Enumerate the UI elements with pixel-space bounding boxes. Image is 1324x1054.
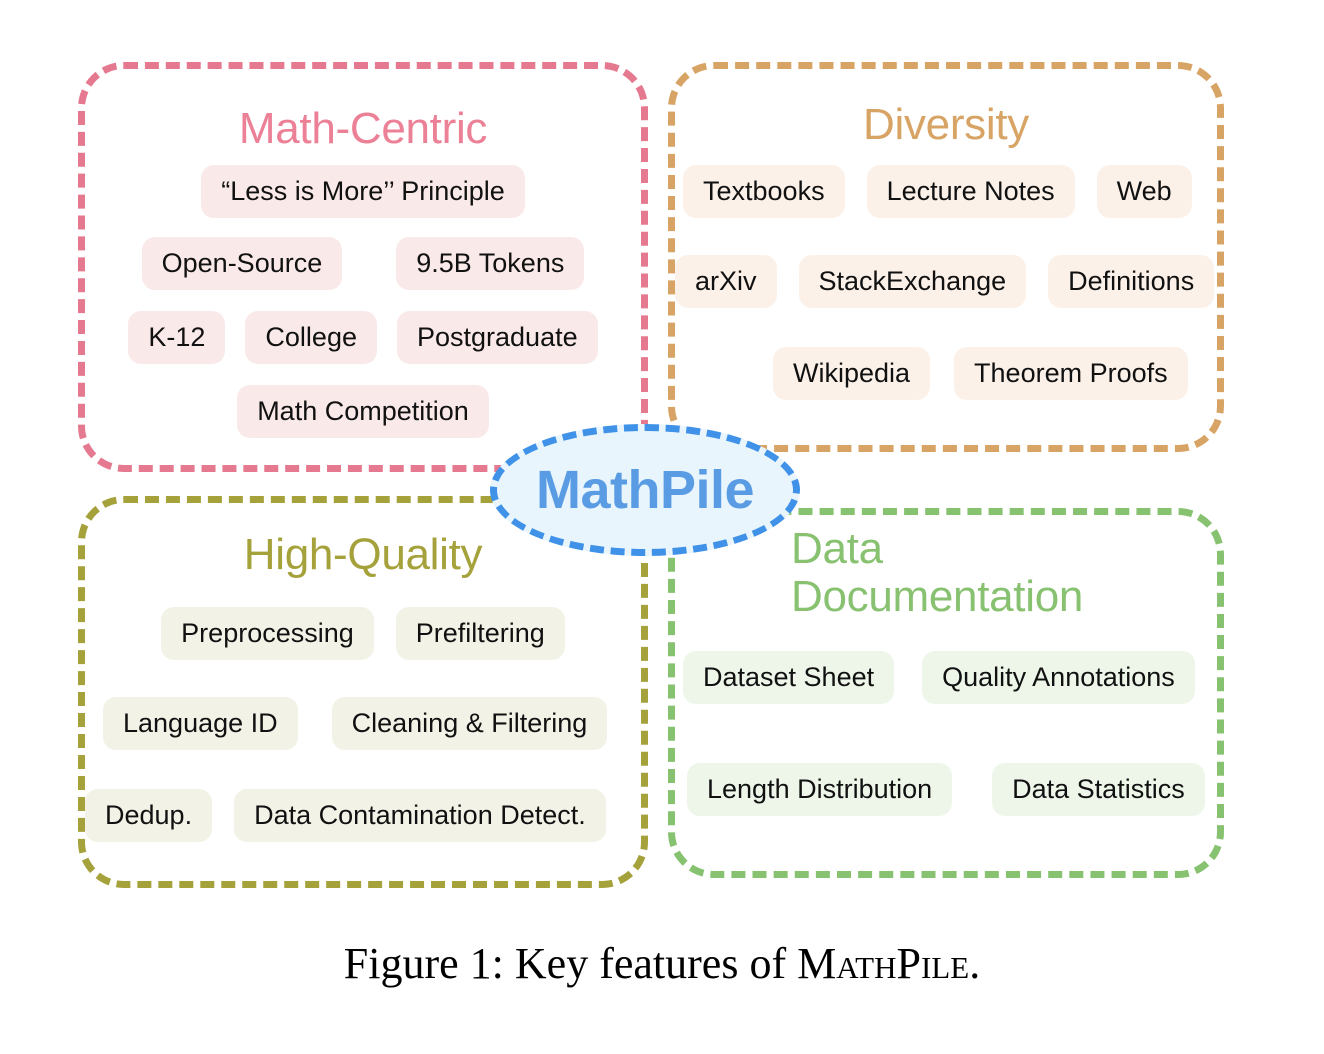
chip-open-source[interactable]: Open-Source	[142, 237, 343, 290]
figure-caption: Figure 1: Key features of MathPile.	[0, 938, 1324, 989]
chip-web[interactable]: Web	[1097, 165, 1192, 218]
chip-stackexchange[interactable]: StackExchange	[799, 255, 1027, 308]
chip-college[interactable]: College	[245, 311, 377, 364]
quadrant-title-math-centric: Math-Centric	[85, 105, 641, 153]
caption-prefix: Figure 1: Key features of	[344, 939, 797, 988]
chip-row: Language ID Cleaning & Filtering	[103, 697, 659, 750]
chip-theorem-proofs[interactable]: Theorem Proofs	[954, 347, 1188, 400]
quadrant-title-data-documentation: Data Documentation	[791, 525, 1121, 622]
chip-prefiltering[interactable]: Prefiltering	[396, 607, 565, 660]
chip-row: Open-Source 9.5B Tokens	[85, 237, 641, 290]
quadrant-data-documentation: Data Documentation Dataset Sheet Quality…	[668, 508, 1224, 878]
chip-less-is-more-principle[interactable]: “Less is More’’ Principle	[201, 165, 525, 218]
chip-data-statistics[interactable]: Data Statistics	[992, 763, 1205, 816]
quadrant-math-centric: Math-Centric “Less is More’’ Principle O…	[78, 62, 648, 472]
chip-row: Math Competition	[85, 385, 641, 438]
chip-lecture-notes[interactable]: Lecture Notes	[867, 165, 1075, 218]
chip-preprocessing[interactable]: Preprocessing	[161, 607, 374, 660]
chip-row: Textbooks Lecture Notes Web	[683, 165, 1225, 218]
chip-postgraduate[interactable]: Postgraduate	[397, 311, 598, 364]
chip-cleaning-and-filtering[interactable]: Cleaning & Filtering	[332, 697, 608, 750]
chip-row: arXiv StackExchange Definitions	[675, 255, 1217, 308]
quadrant-diversity: Diversity Textbooks Lecture Notes Web ar…	[668, 62, 1224, 452]
chip-dataset-sheet[interactable]: Dataset Sheet	[683, 651, 894, 704]
chip-row: “Less is More’’ Principle	[85, 165, 641, 218]
chip-row: Preprocessing Prefiltering	[85, 607, 641, 660]
chip-row: Length Distribution Data Statistics	[687, 763, 1229, 816]
chip-data-contamination-detect[interactable]: Data Contamination Detect.	[234, 789, 606, 842]
chip-length-distribution[interactable]: Length Distribution	[687, 763, 952, 816]
figure-container: Math-Centric “Less is More’’ Principle O…	[0, 0, 1324, 1054]
chip-definitions[interactable]: Definitions	[1048, 255, 1214, 308]
chip-row: Dedup. Data Contamination Detect.	[85, 789, 641, 842]
chip-language-id[interactable]: Language ID	[103, 697, 298, 750]
chip-row: Wikipedia Theorem Proofs	[773, 347, 1315, 400]
chip-k-12[interactable]: K-12	[128, 311, 225, 364]
chip-quality-annotations[interactable]: Quality Annotations	[922, 651, 1195, 704]
chip-9-5b-tokens[interactable]: 9.5B Tokens	[396, 237, 584, 290]
chip-wikipedia[interactable]: Wikipedia	[773, 347, 930, 400]
chip-arxiv[interactable]: arXiv	[675, 255, 777, 308]
center-node-mathpile[interactable]: MathPile	[490, 424, 800, 556]
quadrant-high-quality: High-Quality Preprocessing Prefiltering …	[78, 496, 648, 888]
chip-dedup[interactable]: Dedup.	[85, 789, 212, 842]
caption-subject: MathPile	[797, 939, 969, 988]
chip-math-competition[interactable]: Math Competition	[237, 385, 489, 438]
quadrant-title-diversity: Diversity	[675, 101, 1217, 149]
caption-suffix: .	[969, 939, 980, 988]
center-node-label: MathPile	[536, 459, 754, 521]
chip-textbooks[interactable]: Textbooks	[683, 165, 845, 218]
chip-row: Dataset Sheet Quality Annotations	[683, 651, 1225, 704]
chip-row: K-12 College Postgraduate	[85, 311, 641, 364]
